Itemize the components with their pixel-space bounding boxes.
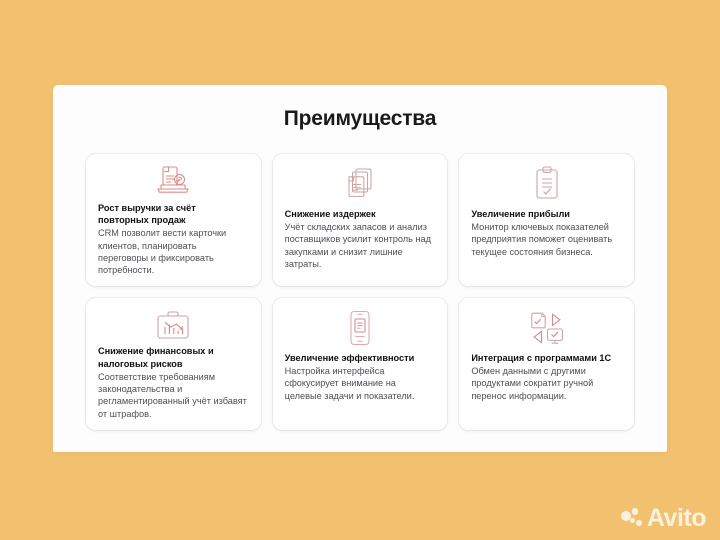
document-monitor-sync-icon	[471, 308, 622, 348]
avito-wordmark: Avito	[647, 506, 706, 531]
benefit-title: Интеграция с программами 1С	[471, 352, 611, 364]
benefit-body: Настройка интерфейса сфокусирует внимани…	[285, 365, 436, 402]
avito-dots-logo-icon	[621, 508, 642, 529]
benefit-title: Рост выручки за счёт повторных продаж	[98, 202, 249, 226]
benefit-title: Снижение финансовых и налоговых рисков	[98, 345, 249, 369]
benefit-card[interactable]: Рост выручки за счёт повторных продаж CR…	[86, 154, 261, 286]
laptop-document-ruble-icon	[98, 164, 249, 198]
avito-watermark: Avito	[621, 506, 706, 531]
page-title: Преимущества	[53, 107, 667, 131]
stacked-documents-icon	[285, 164, 436, 204]
benefits-grid: Рост выручки за счёт повторных продаж CR…	[53, 154, 667, 430]
benefit-body: Обмен данными с другими продуктами сокра…	[471, 365, 622, 402]
benefit-card[interactable]: Интеграция с программами 1С Обмен данным…	[459, 298, 634, 430]
benefit-body: CRM позволит вести карточки клиентов, пл…	[98, 227, 249, 276]
benefit-card[interactable]: Увеличение прибыли Монитор ключевых пока…	[459, 154, 634, 286]
benefit-body: Монитор ключевых показателей предприятия…	[471, 221, 622, 258]
clipboard-checklist-icon	[471, 164, 622, 204]
benefit-body: Учёт складских запасов и анализ поставщи…	[285, 221, 436, 270]
benefit-title: Увеличение прибыли	[471, 208, 570, 220]
benefit-card[interactable]: Снижение издержек Учёт складских запасов…	[273, 154, 448, 286]
benefit-title: Снижение издержек	[285, 208, 376, 220]
benefit-card[interactable]: Увеличение эффективности Настройка интер…	[273, 298, 448, 430]
mobile-phone-interface-icon	[285, 308, 436, 348]
benefits-panel: Преимущества Рост выручки за счёт повтор…	[53, 85, 667, 452]
briefcase-declining-chart-icon	[98, 308, 249, 341]
benefit-body: Соответствие требованиям законодательств…	[98, 371, 249, 420]
benefit-title: Увеличение эффективности	[285, 352, 415, 364]
benefit-card[interactable]: Снижение финансовых и налоговых рисков С…	[86, 298, 261, 430]
